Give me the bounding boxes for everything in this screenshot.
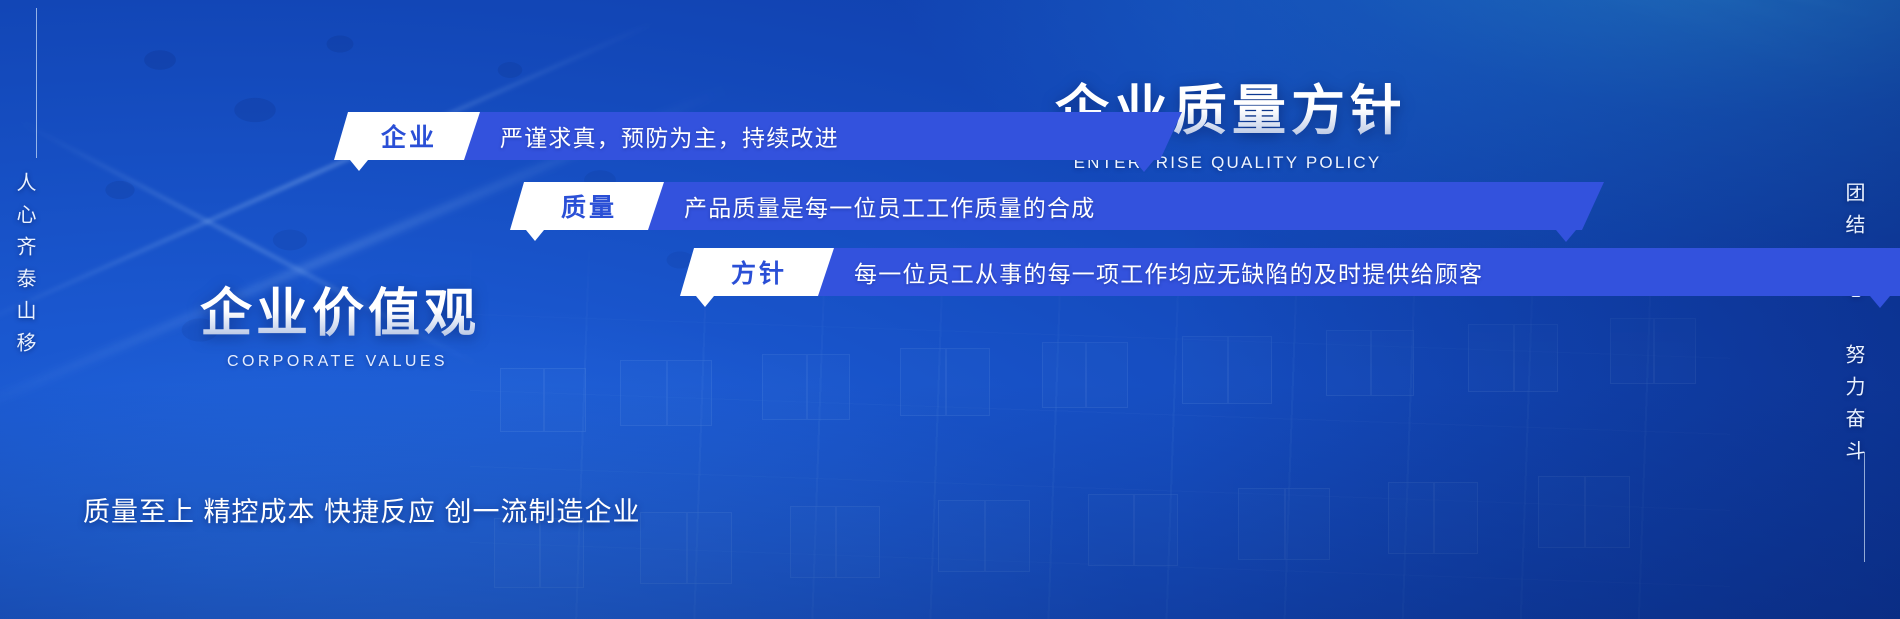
values-title-en: CORPORATE VALUES (200, 353, 475, 371)
values-slogan: 质量至上 精控成本 快捷反应 创一流制造企业 (83, 490, 641, 529)
policy-row-3-text: 每一位员工从事的每一项工作均应无缺陷的及时提供给顾客 (854, 255, 1483, 289)
policy-row-3-tag-label: 方针 (731, 254, 787, 290)
left-divider-rule (36, 8, 37, 158)
policy-row-2-bar: 产品质量是每一位员工工作质量的合成 (644, 182, 1604, 230)
policy-row-2-text: 产品质量是每一位员工工作质量的合成 (684, 189, 1095, 223)
banner-canvas: 人心齐泰山移 团结一心 努力奋斗 企业质量方针 ENTERPRISE QUALI… (0, 0, 1900, 619)
policy-row-2-tag-label: 质量 (561, 188, 617, 224)
policy-row-1-tag-label: 企业 (381, 118, 437, 154)
policy-row-1-tag: 企业 (334, 112, 480, 160)
policy-row-2-tag: 质量 (510, 182, 664, 230)
right-vertical-couplet: 团结一心 努力奋斗 (1843, 182, 1863, 472)
policy-row-1-bar: 严谨求真，预防为主，持续改进 (460, 112, 1182, 160)
values-title-cn: 企业价值观 (200, 285, 475, 343)
policy-row-3-tag: 方针 (680, 248, 834, 296)
policy-row-1-text: 严谨求真，预防为主，持续改进 (500, 119, 839, 153)
left-vertical-couplet: 人心齐泰山移 (14, 172, 34, 364)
values-heading-block: 企业价值观 CORPORATE VALUES (200, 285, 475, 371)
right-divider-rule (1864, 452, 1865, 562)
policy-row-3-bar: 每一位员工从事的每一项工作均应无缺陷的及时提供给顾客 (814, 248, 1900, 296)
